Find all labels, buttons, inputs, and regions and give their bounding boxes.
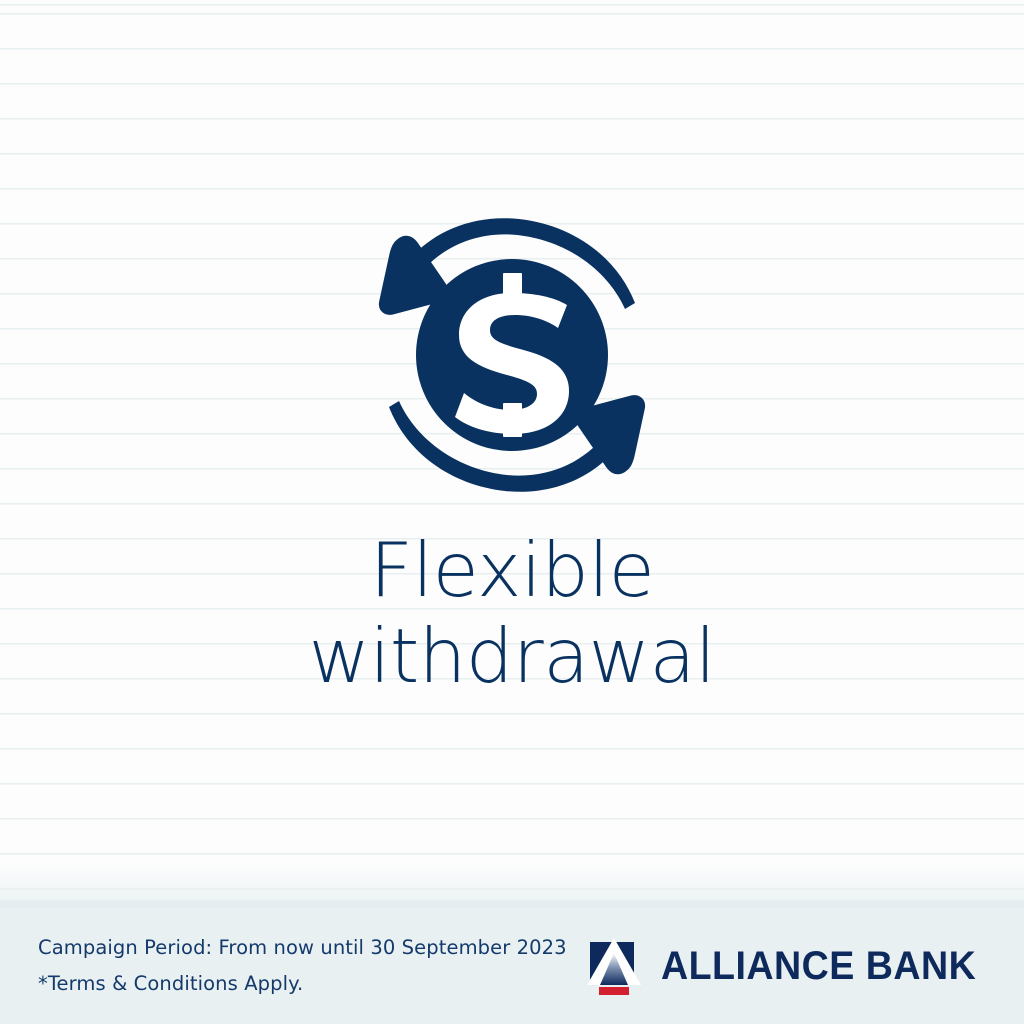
campaign-terms-text: Campaign Period: From now until 30 Septe… xyxy=(38,930,567,1002)
terms-conditions-text: *Terms & Conditions Apply. xyxy=(38,966,567,1002)
brand-name: ALLIANCE BANK xyxy=(661,946,976,986)
headline-line-2: withdrawal xyxy=(0,613,1024,699)
campaign-period-text: Campaign Period: From now until 30 Septe… xyxy=(38,930,567,966)
circular-arrows-dollar-icon xyxy=(367,205,657,505)
footer-bar: Campaign Period: From now until 30 Septe… xyxy=(0,908,1024,1024)
promo-poster: Flexible withdrawal Campaign Period: Fro… xyxy=(0,0,1024,1024)
page-title: Flexible withdrawal xyxy=(0,527,1024,699)
headline-line-1: Flexible xyxy=(0,527,1024,613)
hero-content: Flexible withdrawal xyxy=(0,0,1024,900)
alliance-bank-logo-mark xyxy=(583,935,645,997)
brand-lockup: ALLIANCE BANK xyxy=(583,935,1008,997)
